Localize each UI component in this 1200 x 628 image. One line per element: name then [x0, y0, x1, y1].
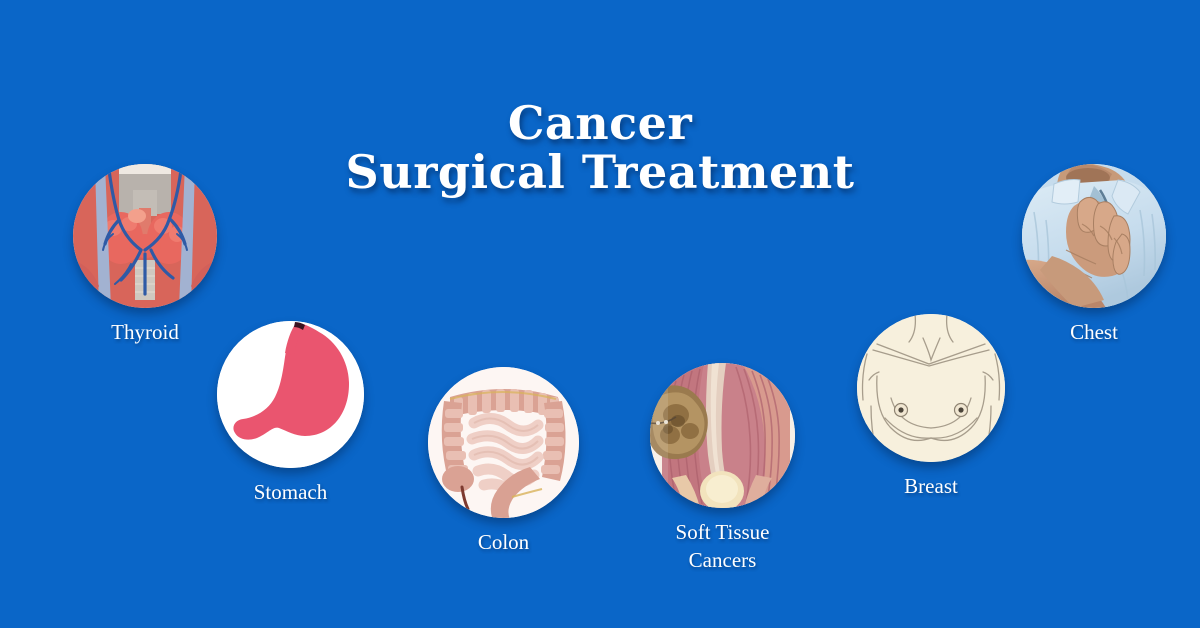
node-chest[interactable]: Chest [1022, 164, 1166, 346]
chest-label: Chest [1022, 318, 1166, 346]
thyroid-label: Thyroid [73, 318, 217, 346]
breast-circle[interactable] [857, 314, 1005, 462]
breast-illustration-icon [857, 314, 1005, 462]
node-soft-tissue-cancers[interactable]: Soft Tissue Cancers [650, 363, 795, 575]
colon-label: Colon [428, 528, 579, 556]
stomach-label: Stomach [217, 478, 364, 506]
title-line-1: Cancer [0, 100, 1200, 147]
breast-label: Breast [857, 472, 1005, 500]
colon-illustration-icon [428, 367, 579, 518]
node-thyroid[interactable]: Thyroid [73, 164, 217, 346]
soft-tissue-label: Soft Tissue Cancers [650, 518, 795, 575]
soft-tissue-circle[interactable] [650, 363, 795, 508]
node-breast[interactable]: Breast [857, 314, 1005, 500]
stomach-illustration-icon [217, 321, 364, 468]
infographic-canvas: Cancer Surgical Treatment [0, 0, 1200, 628]
colon-circle[interactable] [428, 367, 579, 518]
chest-circle[interactable] [1022, 164, 1166, 308]
chest-photo-icon [1022, 164, 1166, 308]
stomach-circle[interactable] [217, 321, 364, 468]
node-colon[interactable]: Colon [428, 367, 579, 556]
thyroid-illustration-icon [73, 164, 217, 308]
soft-tissue-illustration-icon [650, 363, 795, 508]
thyroid-circle[interactable] [73, 164, 217, 308]
node-stomach[interactable]: Stomach [217, 321, 364, 506]
